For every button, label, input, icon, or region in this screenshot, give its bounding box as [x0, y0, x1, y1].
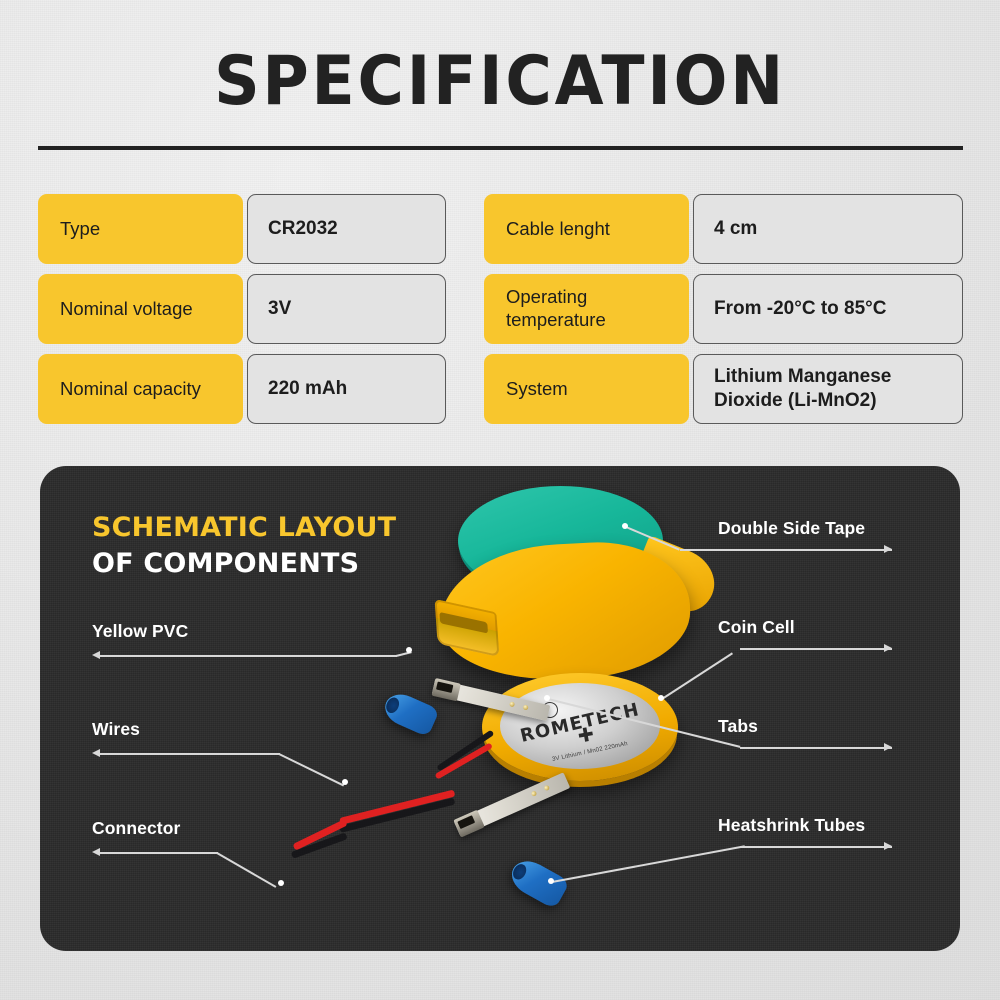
page-title: SPECIFICATION — [35, 48, 965, 116]
callout-dot-coin-cell — [658, 695, 664, 701]
callout-leader-yellow-pvc — [100, 655, 397, 657]
callout-arrow-double-side-tape — [884, 545, 892, 553]
callout-label-tabs: Tabs — [718, 716, 758, 737]
callout-label-connector: Connector — [92, 818, 180, 839]
title-divider — [38, 146, 963, 150]
column-gap — [446, 354, 484, 434]
spec-label-system: System — [484, 354, 689, 424]
callout-arrow-yellow-pvc — [92, 651, 100, 659]
callout-leader-heatshrink-tubes — [740, 846, 892, 848]
callout-leader-coin-cell — [740, 648, 892, 650]
spec-label-nominal-voltage: Nominal voltage — [38, 274, 243, 344]
column-gap — [446, 194, 484, 274]
callout-label-wires: Wires — [92, 719, 140, 740]
callout-leader-connector — [100, 852, 218, 854]
callout-arrow-wires — [92, 749, 100, 757]
callout-leader-heatshrink-tubes — [552, 845, 745, 883]
callout-leader-wires — [100, 753, 280, 755]
spec-label-nominal-capacity: Nominal capacity — [38, 354, 243, 424]
spec-value-operating-temperature: From -20°C to 85°C — [693, 274, 963, 344]
spec-label-operating-temperature: Operating temperature — [484, 274, 689, 344]
callout-leader-wires — [279, 753, 345, 786]
callout-leader-double-side-tape — [680, 549, 892, 551]
callout-dot-tabs — [544, 695, 550, 701]
schematic-panel: ROMETECH ✚ 3V Lithium / Mn02 220mAh — [40, 466, 960, 951]
callout-arrow-tabs — [884, 743, 892, 751]
schematic-heading-line2: OF COMPONENTS — [92, 546, 396, 582]
schematic-heading: SCHEMATIC LAYOUT OF COMPONENTS — [92, 510, 396, 581]
schematic-heading-line1: SCHEMATIC LAYOUT — [92, 510, 396, 546]
callout-arrow-connector — [92, 848, 100, 856]
spec-value-nominal-voltage: 3V — [247, 274, 446, 344]
spec-value-cable-lenght: 4 cm — [693, 194, 963, 264]
callout-leader-double-side-tape — [626, 526, 680, 551]
callout-label-heatshrink-tubes: Heatshrink Tubes — [718, 815, 865, 836]
callout-dot-wires — [342, 779, 348, 785]
spec-label-type: Type — [38, 194, 243, 264]
spec-value-type: CR2032 — [247, 194, 446, 264]
spec-value-nominal-capacity: 220 mAh — [247, 354, 446, 424]
callout-dot-yellow-pvc — [406, 647, 412, 653]
callout-dot-connector — [278, 880, 284, 886]
schematic-overlay: SCHEMATIC LAYOUT OF COMPONENTS Yellow PV… — [40, 466, 960, 951]
callout-leader-tabs — [740, 747, 892, 749]
callout-label-yellow-pvc: Yellow PVC — [92, 621, 188, 642]
callout-label-double-side-tape: Double Side Tape — [718, 518, 865, 539]
spec-label-cable-lenght: Cable lenght — [484, 194, 689, 264]
callout-arrow-coin-cell — [884, 644, 892, 652]
callout-leader-tabs — [548, 698, 741, 748]
callout-arrow-heatshrink-tubes — [884, 842, 892, 850]
column-gap — [446, 274, 484, 354]
callout-leader-coin-cell — [661, 652, 733, 699]
callout-label-coin-cell: Coin Cell — [718, 617, 795, 638]
callout-leader-connector — [217, 852, 277, 888]
specification-table: Type CR2032 Cable lenght 4 cm Nominal vo… — [38, 194, 963, 434]
callout-dot-double-side-tape — [622, 523, 628, 529]
callout-dot-heatshrink-tubes — [548, 878, 554, 884]
spec-value-system: Lithium Manganese Dioxide (Li-MnO2) — [693, 354, 963, 424]
